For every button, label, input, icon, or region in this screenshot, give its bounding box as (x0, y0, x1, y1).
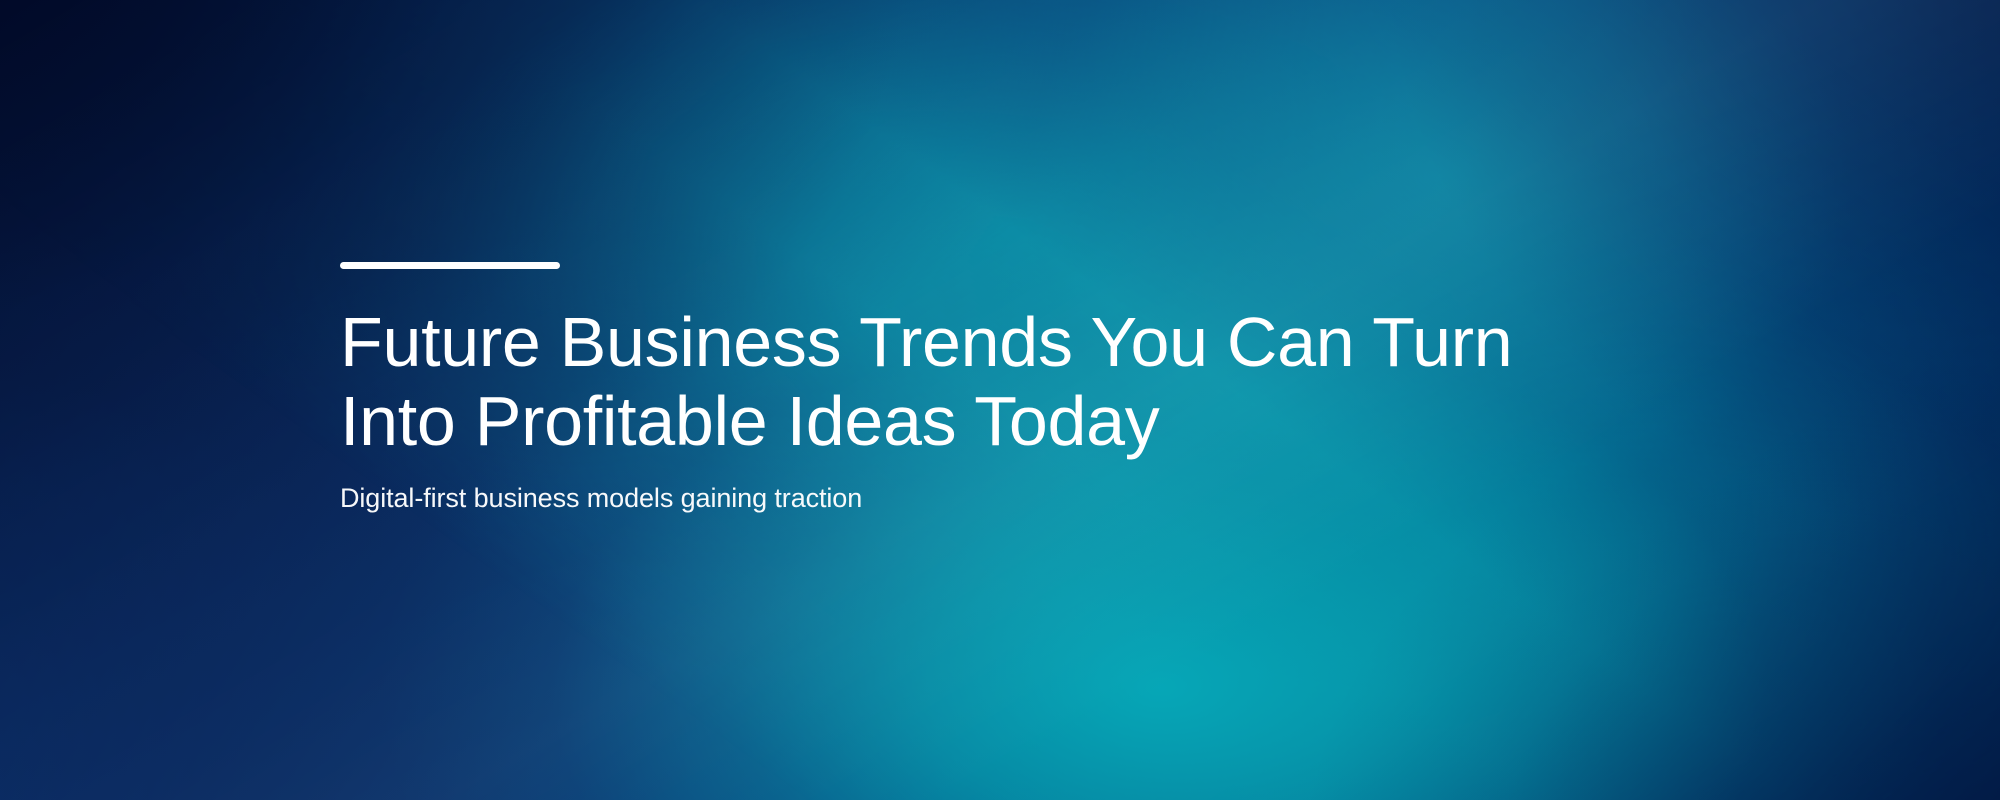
hero-title: Future Business Trends You Can Turn Into… (340, 303, 1560, 461)
hero-content: Future Business Trends You Can Turn Into… (340, 262, 1560, 515)
hero-banner: Future Business Trends You Can Turn Into… (0, 0, 2000, 800)
hero-subtitle: Digital-first business models gaining tr… (340, 481, 1560, 515)
accent-bar (340, 262, 560, 269)
